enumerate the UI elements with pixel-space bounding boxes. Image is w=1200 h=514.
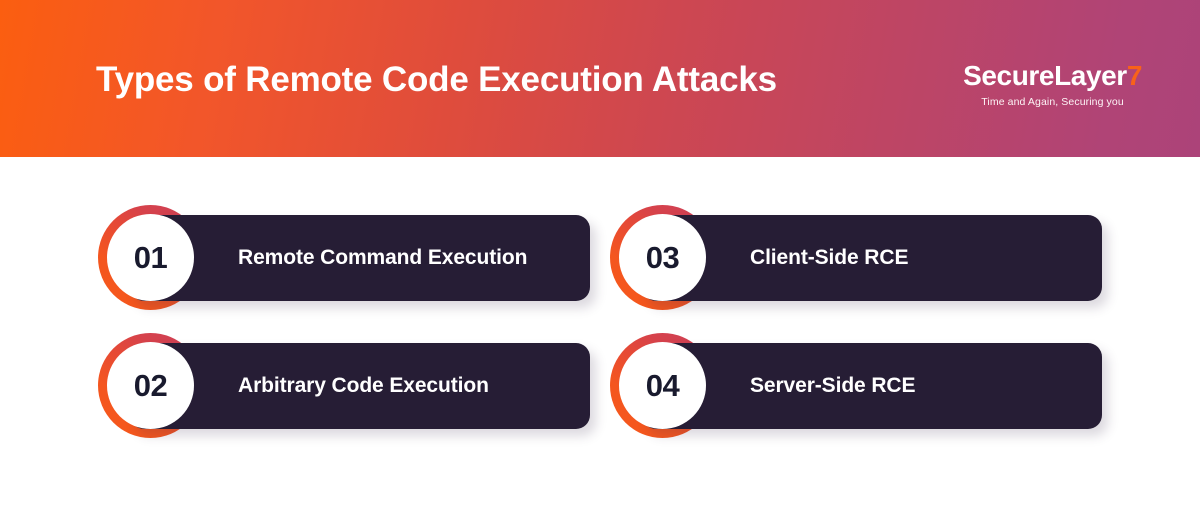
card-number: 01 xyxy=(134,242,167,273)
attack-type-card-03[interactable]: Client-Side RCE 03 xyxy=(610,205,1102,310)
attack-type-card-04[interactable]: Server-Side RCE 04 xyxy=(610,333,1102,438)
number-badge: 03 xyxy=(619,214,706,301)
attack-type-card-02[interactable]: Arbitrary Code Execution 02 xyxy=(98,333,590,438)
card-grid: Remote Command Execution 01 Arbitrary Co… xyxy=(0,157,1200,514)
card-number: 04 xyxy=(646,370,679,401)
number-badge: 01 xyxy=(107,214,194,301)
card-label: Remote Command Execution xyxy=(238,244,568,272)
brand-logo[interactable]: SecureLayer7 Time and Again, Securing yo… xyxy=(963,62,1142,108)
number-badge: 02 xyxy=(107,342,194,429)
card-body: Client-Side RCE xyxy=(642,215,1102,301)
logo-wordmark: SecureLayer7 xyxy=(963,62,1142,90)
card-body: Remote Command Execution xyxy=(130,215,590,301)
card-number: 03 xyxy=(646,242,679,273)
header-banner: Types of Remote Code Execution Attacks S… xyxy=(0,0,1200,157)
card-body: Server-Side RCE xyxy=(642,343,1102,429)
logo-accent-seven: 7 xyxy=(1127,60,1142,91)
card-label: Client-Side RCE xyxy=(750,244,1080,272)
card-label: Arbitrary Code Execution xyxy=(238,372,568,400)
number-badge: 04 xyxy=(619,342,706,429)
card-label: Server-Side RCE xyxy=(750,372,1080,400)
logo-name-text: SecureLayer xyxy=(963,60,1127,91)
card-body: Arbitrary Code Execution xyxy=(130,343,590,429)
logo-tagline: Time and Again, Securing you xyxy=(963,97,1142,108)
card-number: 02 xyxy=(134,370,167,401)
page-title: Types of Remote Code Execution Attacks xyxy=(96,60,777,100)
attack-type-card-01[interactable]: Remote Command Execution 01 xyxy=(98,205,590,310)
